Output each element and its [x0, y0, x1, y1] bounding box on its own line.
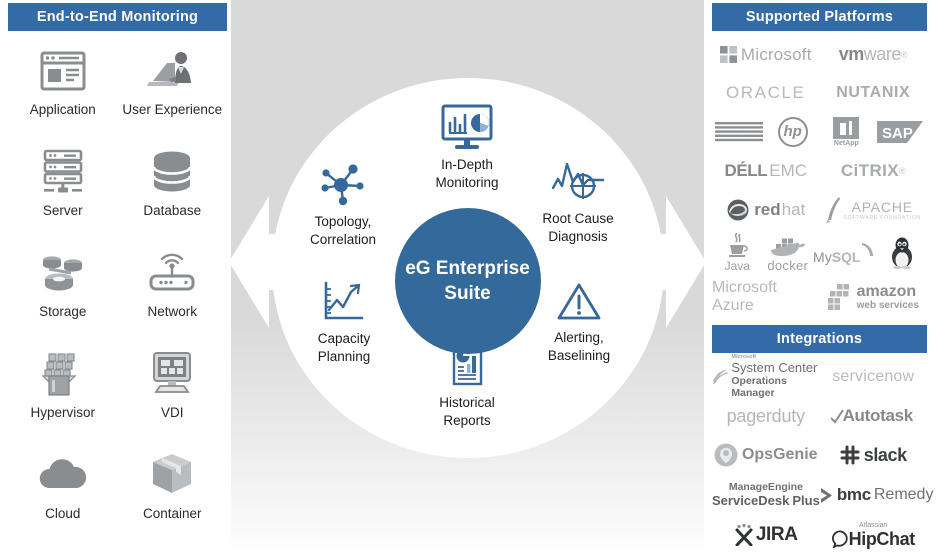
- microsoft-azure-logo[interactable]: Microsoft Azure: [712, 279, 820, 315]
- server-rack-icon: [33, 146, 93, 198]
- hipchat-wordmark: HipChat: [849, 530, 915, 548]
- microsoft-logo[interactable]: Microsoft: [712, 45, 820, 65]
- slack-hash-icon: [840, 445, 860, 465]
- core-title-line2: Suite: [444, 283, 490, 304]
- integrations-header: Integrations: [712, 325, 927, 353]
- pagerduty-logo[interactable]: pagerduty: [712, 406, 820, 427]
- atlassian-label: Atlassian: [859, 522, 887, 529]
- logo-row: JIRA Atlassian HipChat: [712, 515, 927, 555]
- scom-swoosh-icon: [712, 366, 729, 388]
- vmware-logo[interactable]: vm ware ®: [820, 44, 928, 65]
- sap-mark-icon: SAP: [877, 121, 923, 143]
- scom-line2: Operations Manager: [731, 375, 819, 399]
- integrations-logo-grid: Microsoft System Center Operations Manag…: [704, 353, 936, 555]
- database-cylinder-icon: [142, 146, 202, 198]
- logo-row: Java docker My: [712, 230, 927, 275]
- center-panel: In-Depth Monitoring: [231, 0, 704, 551]
- nutanix-logo[interactable]: NUTANIX: [820, 84, 928, 102]
- capability-root-cause-diagnosis[interactable]: Root Cause Diagnosis: [518, 152, 638, 246]
- dell-wordmark: DÉLL: [724, 161, 767, 181]
- tile-application[interactable]: Application: [8, 37, 118, 138]
- nutanix-wordmark: NUTANIX: [836, 84, 910, 102]
- person-laptop-icon: [142, 45, 202, 97]
- autotask-wordmark: Autotask: [843, 406, 913, 426]
- monitor-dashboard-icon: [440, 98, 494, 152]
- cloud-icon: [33, 449, 93, 501]
- citrix-logo[interactable]: CiTRIX ®: [820, 161, 928, 181]
- java-steam-cup-icon: [725, 232, 749, 259]
- servicedesk-wordmark: ServiceDesk: [712, 493, 789, 508]
- jira-wordmark: JIRA: [756, 524, 798, 546]
- tile-database[interactable]: Database: [118, 138, 228, 239]
- tile-vdi[interactable]: VDI: [118, 340, 228, 441]
- citrix-wordmark: CiTRIX: [841, 161, 899, 181]
- arrow-right-icon: [640, 182, 704, 342]
- autotask-logo[interactable]: Autotask ·: [820, 406, 928, 426]
- end-to-end-monitoring-header: End-to-End Monitoring: [8, 3, 227, 31]
- docker-whale-icon: [768, 233, 808, 257]
- capability-label: Alerting, Baselining: [548, 329, 610, 365]
- logo-row: Microsoft vm ware ®: [712, 35, 927, 74]
- servicenow-logo[interactable]: servicenow: [820, 368, 928, 386]
- capability-topology-correlation[interactable]: Topology, Correlation: [283, 155, 403, 249]
- docker-wordmark: docker: [767, 258, 808, 273]
- capability-label: Topology, Correlation: [310, 213, 376, 249]
- mysql-wordmark-my: My: [813, 249, 832, 265]
- svg-text:SAP: SAP: [882, 125, 913, 142]
- tile-label: Storage: [39, 304, 86, 319]
- emc-wordmark: EMC: [769, 161, 807, 181]
- manageengine-wordmark-bold: ManageEngine: [729, 482, 803, 493]
- sap-logo[interactable]: SAP: [873, 121, 927, 143]
- hypervisor-boxes-icon: [33, 348, 93, 400]
- tile-label: Application: [30, 102, 96, 117]
- container-box-icon: [142, 449, 202, 501]
- supported-platforms-logo-grid: Microsoft vm ware ® ORACLE NUTANIX: [704, 31, 936, 319]
- oracle-logo[interactable]: ORACLE: [712, 83, 820, 103]
- slack-logo[interactable]: slack: [820, 445, 928, 466]
- supported-platforms-header: Supported Platforms: [712, 3, 927, 31]
- storage-disks-icon: [33, 247, 93, 299]
- hp-wordmark: hp: [783, 124, 801, 139]
- aws-blocks-icon: [828, 284, 854, 310]
- apache-wordmark: APACHE: [852, 199, 913, 215]
- capability-capacity-planning[interactable]: Capacity Planning: [284, 272, 404, 366]
- tile-cloud[interactable]: Cloud: [8, 441, 118, 542]
- ibm-striped-wordmark: [715, 122, 763, 142]
- scom-logo[interactable]: Microsoft System Center Operations Manag…: [712, 355, 820, 399]
- amazon-wordmark: amazon: [857, 284, 917, 300]
- end-to-end-monitoring-panel: End-to-End Monitoring Application: [0, 0, 231, 551]
- tile-label: Container: [143, 506, 202, 521]
- aws-logo[interactable]: amazon web services: [820, 284, 928, 311]
- bmc-wordmark: bmc: [837, 485, 871, 505]
- tile-hypervisor[interactable]: Hypervisor: [8, 340, 118, 441]
- core-title-line1: eG Enterprise: [405, 258, 530, 279]
- jira-logo[interactable]: JIRA: [712, 524, 820, 546]
- tile-label: VDI: [161, 405, 184, 420]
- hipchat-bubble-icon: [832, 530, 850, 548]
- plus-wordmark: Plus: [792, 493, 819, 508]
- tile-storage[interactable]: Storage: [8, 239, 118, 340]
- dell-emc-logo[interactable]: DÉLL EMC: [712, 161, 820, 181]
- oracle-wordmark: ORACLE: [726, 83, 806, 103]
- azure-wordmark: Microsoft Azure: [712, 279, 820, 315]
- tile-label: Cloud: [45, 506, 80, 521]
- jira-mark-icon: [734, 524, 754, 546]
- monitoring-tile-grid: Application User Experience: [0, 31, 231, 542]
- desktop-monitor-icon: [142, 348, 202, 400]
- mysql-logo[interactable]: My SQL: [813, 241, 876, 265]
- logo-row: pagerduty Autotask ·: [712, 397, 927, 435]
- trend-chart-icon: [320, 272, 368, 326]
- java-wordmark: Java: [725, 259, 750, 273]
- logo-row: Microsoft Azure amaz: [712, 275, 927, 319]
- vmware-wordmark-bold: vm: [839, 44, 864, 65]
- vmware-wordmark-light: ware: [864, 44, 901, 65]
- linux-tux-logo[interactable]: [876, 237, 927, 269]
- core-product-circle[interactable]: eG Enterprise Suite: [395, 208, 541, 354]
- mysql-wordmark-sql: SQL: [832, 249, 861, 265]
- tile-user-experience[interactable]: User Experience: [118, 37, 228, 138]
- apache-subtitle: SOFTWARE FOUNDATION: [844, 215, 921, 221]
- opsgenie-logo[interactable]: OpsGenie: [712, 443, 820, 467]
- scom-line1: System Center: [731, 361, 817, 375]
- logo-row: DÉLL EMC CiTRIX ®: [712, 152, 927, 190]
- tile-label: Network: [147, 304, 197, 319]
- root-cause-target-icon: [550, 152, 606, 206]
- redhat-logo[interactable]: red hat: [712, 199, 820, 221]
- hat-wordmark: hat: [782, 200, 806, 220]
- pagerduty-wordmark: pagerduty: [727, 406, 805, 427]
- ibm-logo[interactable]: [712, 122, 766, 142]
- red-wordmark: red: [754, 200, 780, 220]
- bmc-chevron-icon: [820, 487, 834, 504]
- slack-wordmark: slack: [864, 445, 907, 466]
- docker-logo[interactable]: docker: [763, 233, 814, 273]
- capability-label: In-Depth Monitoring: [435, 156, 498, 192]
- apache-feather-icon: [826, 196, 842, 224]
- bmc-remedy-logo[interactable]: bmc Remedy: [820, 485, 934, 505]
- logo-row: ManageEngine ServiceDesk Plus bmc Remedy: [712, 475, 927, 515]
- tile-label: Server: [43, 203, 83, 218]
- redhat-shadowman-icon: [726, 199, 750, 221]
- browser-window-icon: [33, 45, 93, 97]
- opsgenie-mark-icon: [714, 443, 738, 467]
- java-logo[interactable]: Java: [712, 232, 763, 273]
- tile-container[interactable]: Container: [118, 441, 228, 542]
- platforms-integrations-panel: Supported Platforms Microsoft: [704, 0, 936, 551]
- netapp-logo[interactable]: NetApp: [820, 117, 874, 147]
- capability-label: Capacity Planning: [318, 330, 371, 366]
- logo-row: ORACLE NUTANIX: [712, 74, 927, 111]
- capability-in-depth-monitoring[interactable]: In-Depth Monitoring: [407, 98, 527, 192]
- microsoft-wordmark: Microsoft: [741, 45, 812, 65]
- mysql-dolphin-icon: [860, 241, 876, 263]
- tile-server[interactable]: Server: [8, 138, 118, 239]
- aws-subtitle: web services: [857, 300, 919, 311]
- capability-label: Root Cause Diagnosis: [542, 210, 613, 246]
- hp-logo[interactable]: hp: [766, 117, 820, 147]
- apache-logo[interactable]: APACHE SOFTWARE FOUNDATION: [820, 196, 928, 224]
- logo-row: Microsoft System Center Operations Manag…: [712, 357, 927, 397]
- tile-label: User Experience: [122, 102, 222, 117]
- logo-row: hp NetApp SAP: [712, 111, 927, 152]
- warning-triangle-icon: [555, 271, 603, 325]
- tile-network[interactable]: Network: [118, 239, 228, 340]
- tile-label: Hypervisor: [30, 405, 95, 420]
- microsoft-squares-icon: [720, 46, 737, 63]
- logo-row: red hat APACHE SOFTWARE FOUNDATION: [712, 190, 927, 230]
- tile-label: Database: [143, 203, 201, 218]
- topology-nodes-icon: [317, 155, 369, 209]
- linux-penguin-icon: [889, 237, 915, 269]
- hipchat-logo[interactable]: Atlassian HipChat: [820, 522, 928, 548]
- netapp-mark-icon: [833, 117, 859, 139]
- logo-row: OpsGenie slack: [712, 435, 927, 475]
- infographic-root: In-Depth Monitoring: [0, 0, 936, 551]
- remedy-wordmark: Remedy: [874, 486, 934, 504]
- netapp-wordmark: NetApp: [834, 140, 859, 147]
- capability-label: Historical Reports: [439, 394, 495, 430]
- servicenow-wordmark: servicenow: [832, 368, 914, 386]
- opsgenie-wordmark: OpsGenie: [742, 446, 818, 464]
- servicedesk-plus-logo[interactable]: ManageEngine ServiceDesk Plus: [712, 482, 820, 509]
- wifi-router-icon: [142, 247, 202, 299]
